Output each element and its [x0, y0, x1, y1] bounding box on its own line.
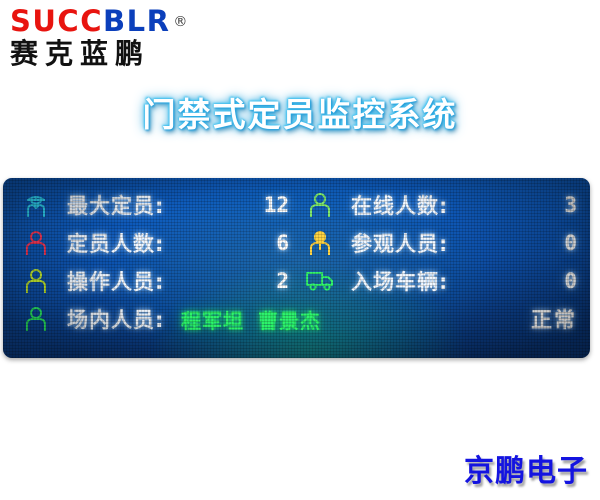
row-visitors: 参观人员: 0: [305, 224, 581, 262]
row-value: 0: [564, 269, 577, 293]
row-online-count: 在线人数: 3: [305, 186, 581, 224]
registered-trademark-icon: ®: [173, 7, 189, 37]
panel-left-column: 最大定员: 12 定员人数: 6: [21, 186, 293, 350]
row-label: 最大定员:: [67, 190, 164, 220]
led-display-panel: 最大定员: 12 定员人数: 6: [3, 178, 590, 358]
truck-icon: [305, 266, 335, 296]
row-label: 入场车辆:: [351, 266, 448, 296]
row-label: 操作人员:: [67, 266, 164, 296]
page-title: 门禁式定员监控系统: [0, 88, 600, 136]
brand-wordmark: SUCCBLR®: [8, 6, 223, 36]
row-value: 0: [564, 231, 577, 255]
row-label: 场内人员:: [67, 304, 164, 334]
row-system-status: 正常: [305, 300, 581, 338]
row-label: 参观人员:: [351, 228, 448, 258]
row-assigned-personnel: 定员人数: 6: [21, 224, 293, 262]
row-max-capacity: 最大定员: 12: [21, 186, 293, 224]
row-value: 12: [264, 193, 289, 217]
panel-right-column: 在线人数: 3 参观人员: 0: [305, 186, 581, 350]
brand-logo: SUCCBLR® 赛克蓝鹏: [8, 6, 223, 74]
person-yellow-green-icon: [21, 266, 51, 296]
footer-watermark: 京鹏电子: [464, 446, 588, 490]
brand-chinese-name: 赛克蓝鹏: [8, 37, 223, 71]
row-personnel-on-site: 场内人员: 程军坦曹景杰: [21, 300, 293, 338]
person-green-icon: [21, 304, 51, 334]
person-with-cap-icon: [21, 190, 51, 220]
brand-wordmark-part1: SUCC: [10, 4, 103, 38]
row-operating-personnel: 操作人员: 2: [21, 262, 293, 300]
row-label: 在线人数:: [351, 190, 448, 220]
row-value: 2: [276, 269, 289, 293]
person-online-icon: [305, 190, 335, 220]
brand-wordmark-part2: BLR: [103, 4, 170, 38]
person-visitor-icon: [305, 228, 335, 258]
row-label: 定员人数:: [67, 228, 164, 258]
status-badge: 正常: [531, 304, 577, 334]
row-vehicles-entered: 入场车辆: 0: [305, 262, 581, 300]
person-red-icon: [21, 228, 51, 258]
personnel-name-list: 程军坦曹景杰: [181, 305, 321, 334]
row-value: 6: [276, 231, 289, 255]
row-value: 3: [564, 193, 577, 217]
personnel-name: 程军坦: [181, 309, 244, 333]
